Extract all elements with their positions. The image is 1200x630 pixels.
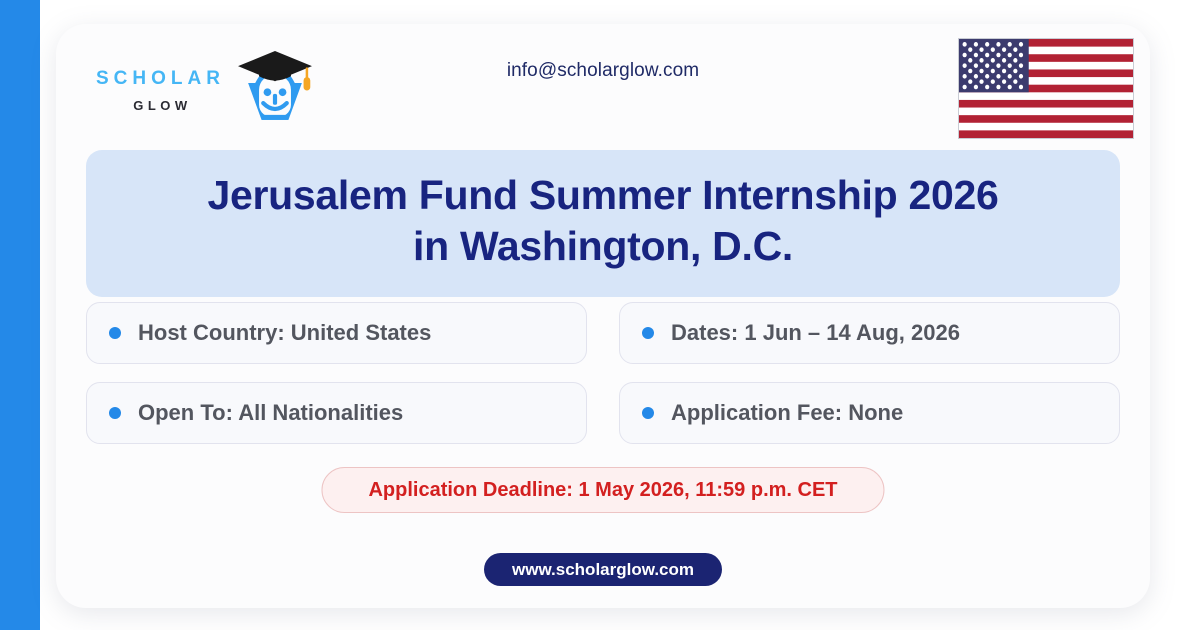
detail-chip-label: Dates: 1 Jun – 14 Aug, 2026 bbox=[671, 320, 960, 346]
brand-logo[interactable]: SCHOLAR GLOW bbox=[96, 46, 317, 130]
title-panel: Jerusalem Fund Summer Internship 2026 in… bbox=[86, 150, 1120, 297]
poster-canvas: SCHOLAR GLOW bbox=[0, 0, 1200, 630]
website-button[interactable]: www.scholarglow.com bbox=[484, 553, 722, 586]
detail-chip-application-fee: Application Fee: None bbox=[619, 382, 1120, 444]
deadline-text: Application Deadline: 1 May 2026, 11:59 … bbox=[368, 479, 837, 502]
bullet-dot-icon bbox=[642, 327, 654, 339]
page-title-line2: in Washington, D.C. bbox=[110, 221, 1096, 272]
brand-name-bottom: GLOW bbox=[129, 99, 191, 112]
website-label: www.scholarglow.com bbox=[512, 560, 694, 580]
detail-chip-open-to: Open To: All Nationalities bbox=[86, 382, 587, 444]
deadline-banner: Application Deadline: 1 May 2026, 11:59 … bbox=[321, 467, 884, 513]
poster-header: SCHOLAR GLOW bbox=[56, 24, 1150, 152]
detail-chip-label: Host Country: United States bbox=[138, 320, 431, 346]
bullet-dot-icon bbox=[642, 407, 654, 419]
graduation-cap-owl-icon bbox=[233, 46, 317, 130]
left-accent-bar bbox=[0, 0, 40, 630]
details-grid: Host Country: United States Dates: 1 Jun… bbox=[86, 302, 1120, 444]
united-states-flag-icon bbox=[958, 38, 1134, 139]
content-card: SCHOLAR GLOW bbox=[56, 24, 1150, 608]
detail-chip-host-country: Host Country: United States bbox=[86, 302, 587, 364]
detail-chip-dates: Dates: 1 Jun – 14 Aug, 2026 bbox=[619, 302, 1120, 364]
detail-chip-label: Open To: All Nationalities bbox=[138, 400, 403, 426]
detail-chip-label: Application Fee: None bbox=[671, 400, 903, 426]
bullet-dot-icon bbox=[109, 407, 121, 419]
page-title-line1: Jerusalem Fund Summer Internship 2026 bbox=[110, 170, 1096, 221]
bullet-dot-icon bbox=[109, 327, 121, 339]
